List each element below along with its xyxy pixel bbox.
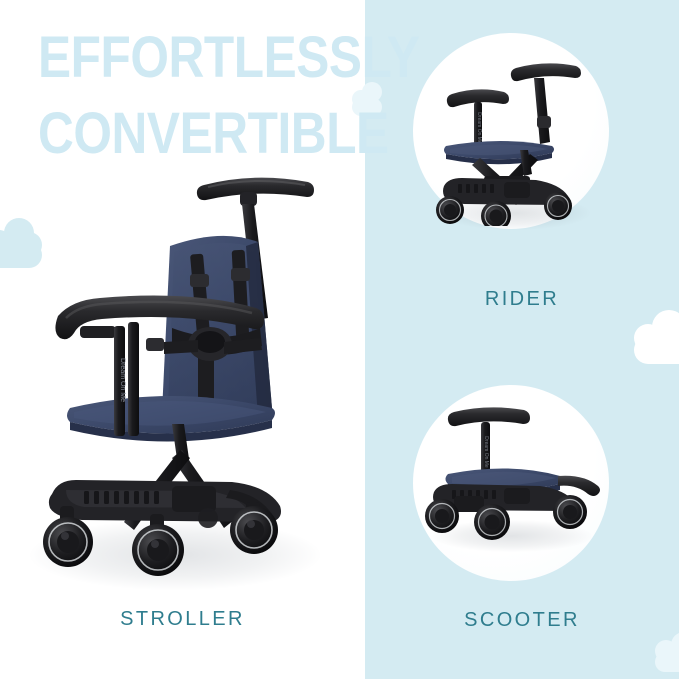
- rider-push-handle: [511, 63, 581, 144]
- stroller-seat-base: [67, 396, 275, 442]
- rider-product-image: Dream On Me: [424, 50, 600, 226]
- headline-line-1: EFFORTLESSLY: [38, 20, 329, 96]
- product-poster: EFFORTLESSLY CONVERTIBLE: [0, 0, 679, 679]
- headline: EFFORTLESSLY CONVERTIBLE: [38, 20, 378, 172]
- rider-seat-platform: [444, 141, 554, 164]
- scooter-rear-arm: [558, 476, 600, 496]
- scooter-product-image: Dream On Me: [418, 400, 604, 550]
- caption-rider: RIDER: [365, 288, 679, 311]
- svg-text:Dream On Me: Dream On Me: [483, 436, 489, 468]
- svg-text:Dream On Me: Dream On Me: [119, 358, 126, 402]
- wheel-front-right: [198, 508, 218, 528]
- headline-line-2: CONVERTIBLE: [38, 96, 329, 172]
- svg-text:Dream On Me: Dream On Me: [476, 112, 482, 144]
- caption-stroller: STROLLER: [0, 608, 365, 631]
- caption-scooter: SCOOTER: [365, 609, 679, 632]
- wheel-front-left: [132, 514, 184, 576]
- stroller-product-image: Dream On Me: [22, 150, 342, 590]
